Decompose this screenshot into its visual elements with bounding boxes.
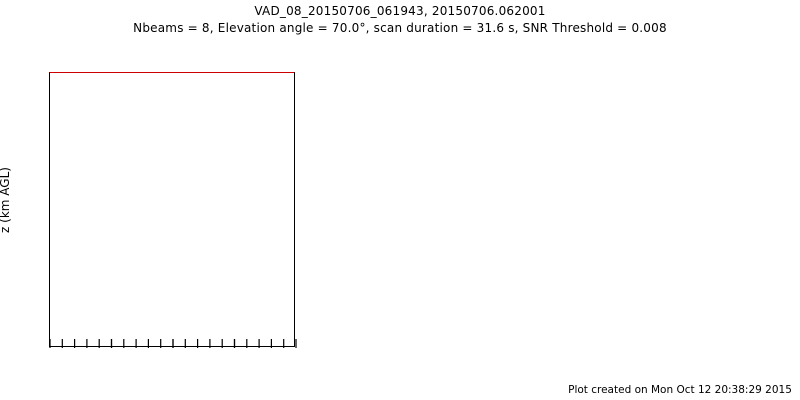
plot-panel-panel1	[49, 72, 295, 347]
figure-title-main: VAD_08_20150706_061943, 20150706.062001	[0, 4, 800, 18]
plot-area-panel1	[50, 73, 296, 348]
figure-title-sub: Nbeams = 8, Elevation angle = 70.0°, sca…	[0, 21, 800, 35]
plot-created-footer: Plot created on Mon Oct 12 20:38:29 2015	[560, 384, 800, 396]
figure-canvas: VAD_08_20150706_061943, 20150706.062001 …	[0, 0, 800, 400]
y-axis-label: z (km AGL)	[0, 167, 12, 233]
